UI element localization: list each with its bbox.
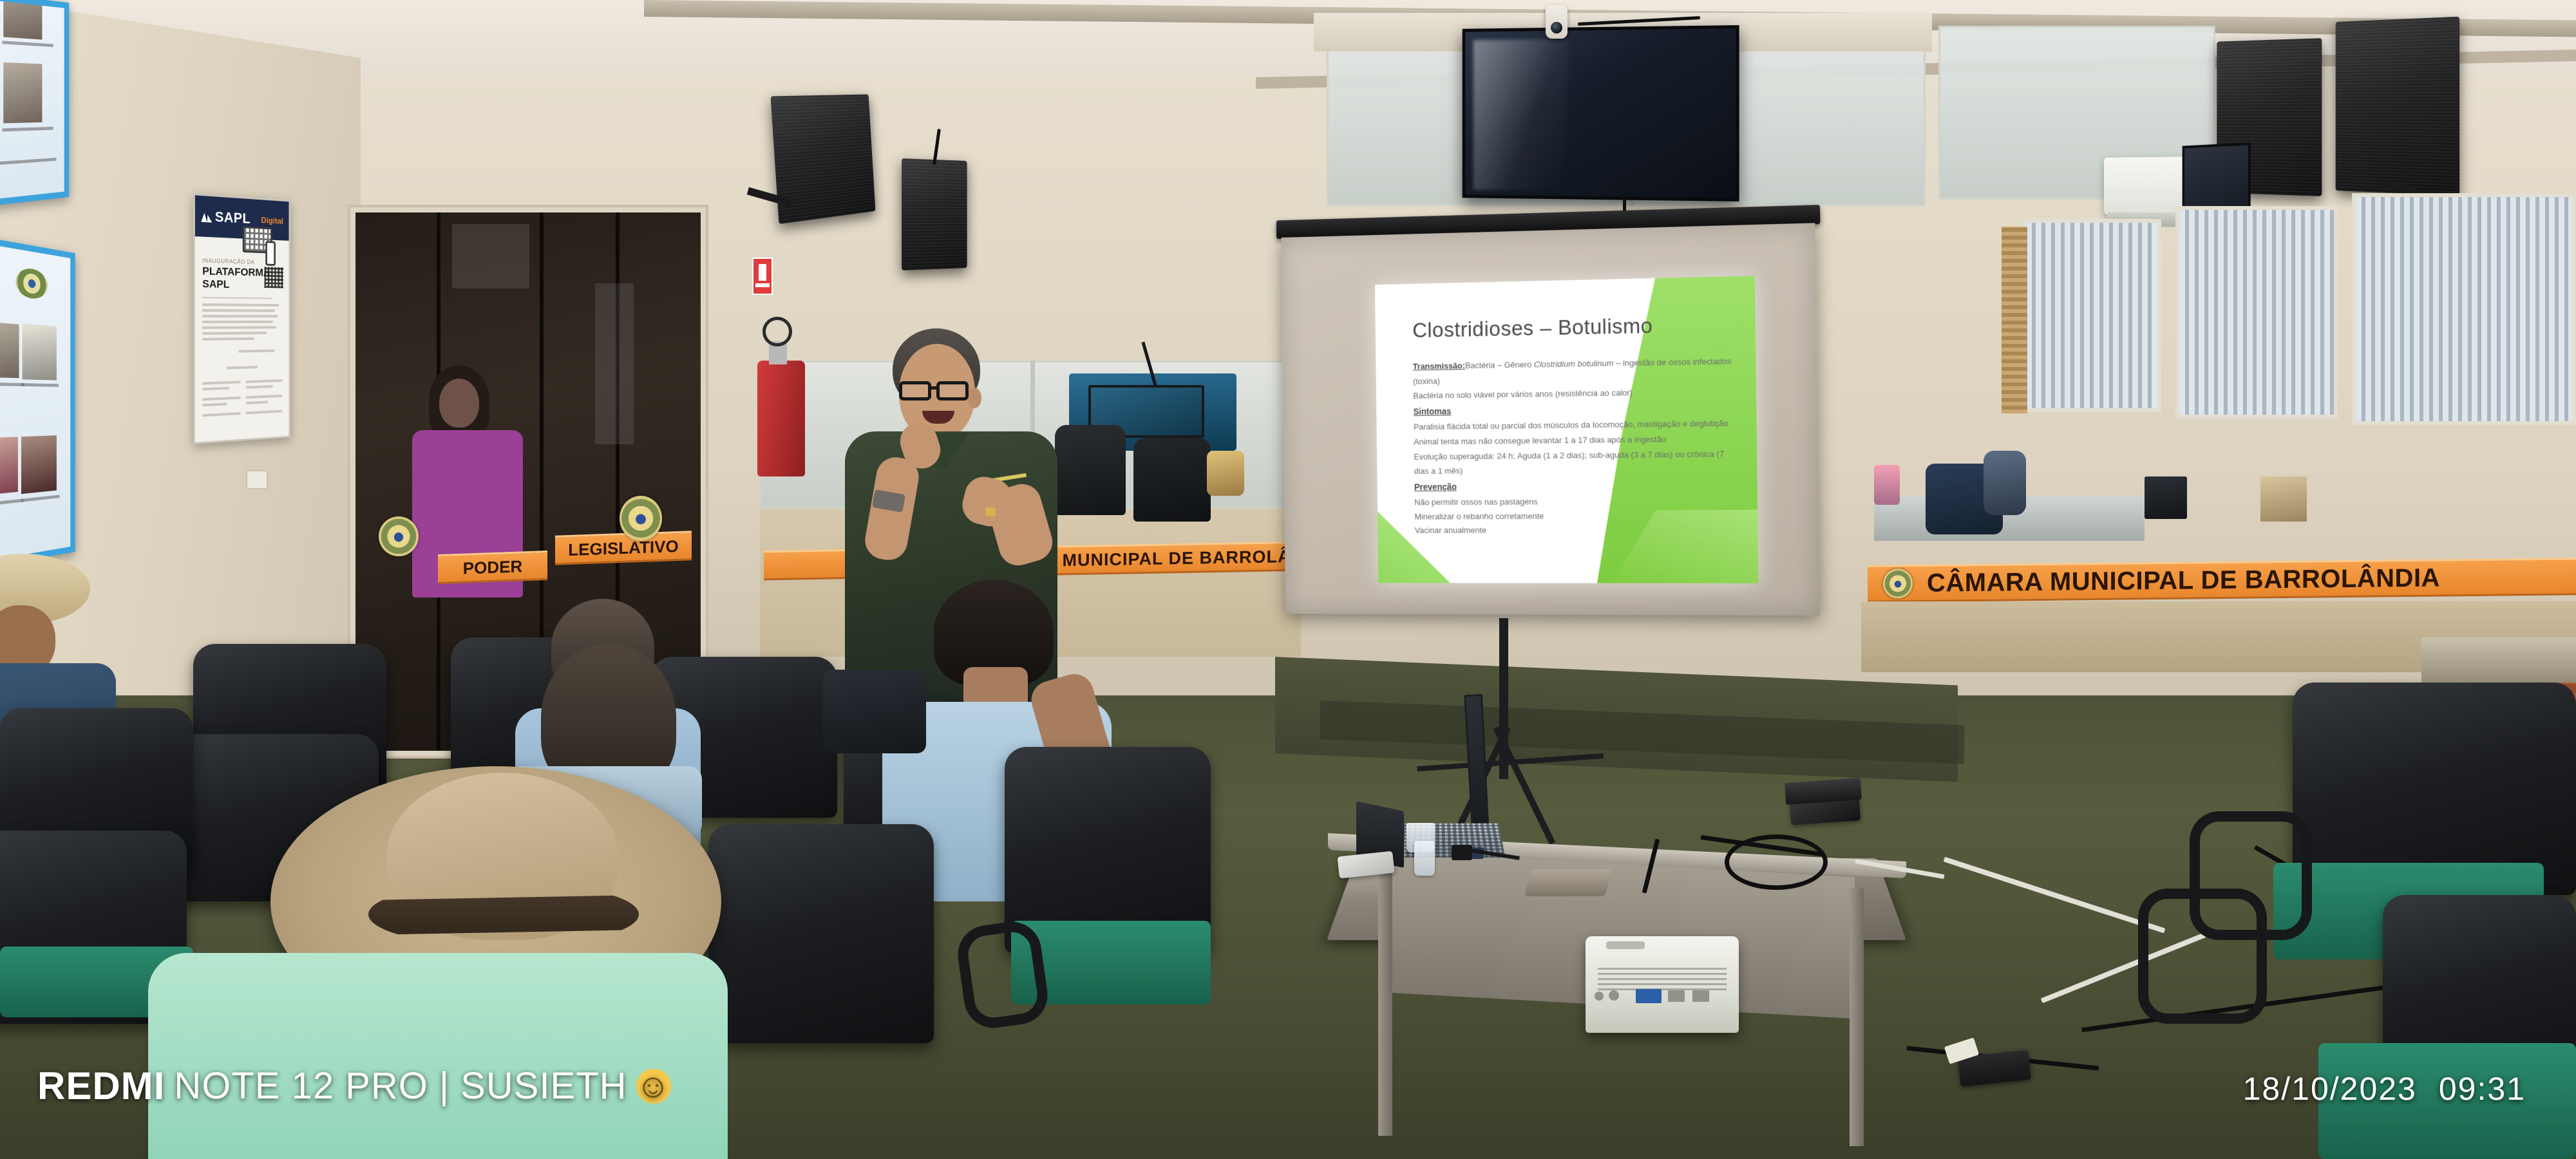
dais-chair-2 <box>1133 438 1211 522</box>
projector-port <box>1595 992 1604 1001</box>
portrait-thumb <box>3 62 42 124</box>
poster-signature-line <box>202 381 240 384</box>
tv-screen-glare <box>1473 39 1568 191</box>
sign-legislativo: LEGISLATIVO <box>555 531 692 565</box>
glasses-lens-left <box>899 381 931 400</box>
audience-shirt-mint <box>148 953 728 1159</box>
sapl-poster: SAPL Digital INAUGURAÇÃO DA PLATAFORMA S… <box>193 193 290 444</box>
slide-title: Clostridioses – Botulismo <box>1412 312 1737 343</box>
cable-coil <box>1725 834 1828 890</box>
slide-bullet: Transmissão:Bactéria – Gênero Clostridiu… <box>1413 353 1738 388</box>
wooden-blind <box>2002 227 2027 413</box>
window-right-b <box>2175 206 2338 419</box>
slide-bullet-italic: Clostridium botulinum <box>1534 359 1614 370</box>
crest-icon-left-2 <box>620 496 662 541</box>
projector[interactable] <box>1586 936 1739 1033</box>
sapl-poster-header: SAPL Digital <box>195 195 289 241</box>
dais-person <box>1207 451 1244 496</box>
fire-extinguisher <box>757 361 805 476</box>
portrait-thumb <box>23 323 57 380</box>
poster-signature-line <box>246 379 282 383</box>
watermark-model: NOTE 12 PRO | SUSIETH <box>174 1064 627 1107</box>
poster-signature-line <box>202 412 240 417</box>
plastic-cup-2[interactable] <box>1414 841 1435 876</box>
window-right-a <box>2022 219 2161 412</box>
poster-signature-line <box>202 402 227 406</box>
portrait-caption <box>0 158 56 165</box>
projector-vga-port <box>1636 989 1662 1003</box>
portrait-thumb <box>3 1 42 40</box>
window-blinds[interactable] <box>2179 210 2334 415</box>
projector-port <box>1609 990 1619 1001</box>
side-table <box>2421 637 2576 683</box>
portrait-caption <box>3 127 53 131</box>
sign-right-camara-label: CÂMARA MUNICIPAL DE BARROLÂNDIA <box>1927 563 2440 598</box>
projector-vent <box>1598 965 1727 990</box>
sapl-logo-label: SAPL <box>215 209 251 227</box>
brazil-coat-of-arms-icon <box>15 267 47 301</box>
wall-switch[interactable] <box>246 470 268 489</box>
crest-icon-right <box>1883 569 1913 598</box>
person-head <box>439 379 479 428</box>
sign-poder-label: PODER <box>463 556 522 578</box>
poster-signature-line <box>246 410 282 415</box>
poster-signature-line <box>202 397 240 401</box>
poster-text-line <box>202 315 278 317</box>
slide-bullet-head: Transmissão: <box>1413 361 1465 371</box>
photo-scene: SAPL Digital INAUGURAÇÃO DA PLATAFORMA S… <box>0 0 2576 1159</box>
poster-text-line <box>202 309 274 312</box>
poster-signature-line <box>246 395 282 399</box>
slide: Clostridioses – Botulismo Transmissão:Ba… <box>1375 276 1759 583</box>
poster-divider <box>202 297 271 299</box>
microphone-head[interactable] <box>1452 845 1472 860</box>
window-blinds[interactable] <box>2356 197 2572 421</box>
watermark-emoji-icon: ☺ <box>636 1069 671 1104</box>
desk-leg-left <box>1378 865 1392 1136</box>
timestamp-date: 18/10/2023 <box>2243 1070 2417 1107</box>
window-blinds[interactable] <box>2026 223 2157 408</box>
slide-bullet: Vacinar anualmente <box>1415 523 1739 538</box>
window-right-c <box>2352 193 2576 425</box>
photo-frame-lower <box>0 238 75 567</box>
sign-right-camara: CÂMARA MUNICIPAL DE BARROLÂNDIA <box>1868 558 2576 603</box>
portrait-caption <box>21 383 59 387</box>
poster-text-line <box>202 337 254 341</box>
chair-armrest <box>954 918 1051 1032</box>
poster-signature-line <box>246 385 273 389</box>
portrait-thumb <box>0 437 18 495</box>
desk-ashtray <box>1524 869 1612 896</box>
sapl-banner-label: Digital <box>261 215 283 225</box>
presenter-ear <box>967 388 981 408</box>
projection-screen-canvas: Clostridioses – Botulismo Transmissão:Ba… <box>1281 223 1819 616</box>
wedding-ring <box>985 507 996 516</box>
crest-icon-left <box>379 516 419 556</box>
projector-port <box>1668 990 1685 1002</box>
sapl-logo-icon <box>201 211 212 223</box>
back-room-flower-vase <box>1874 465 1900 505</box>
watermark-brand: REDMI <box>37 1064 165 1108</box>
sapl-phone-graphic <box>265 241 276 266</box>
security-camera-icon <box>1546 5 1567 39</box>
sign-legislativo-label: LEGISLATIVO <box>568 536 678 560</box>
qr-code-icon <box>264 267 283 288</box>
poster-text-line <box>202 303 279 306</box>
fire-extinguisher-sign-icon <box>752 258 773 295</box>
back-room-cabinet <box>2260 476 2307 522</box>
bag-on-chair <box>823 670 926 753</box>
portrait-caption <box>0 499 23 507</box>
glasses-bridge <box>930 386 939 390</box>
slide-section-heading: Prevenção <box>1414 476 1739 495</box>
poster-signature-line <box>202 387 229 391</box>
door-reflection <box>452 224 529 288</box>
wall-speaker-right-2 <box>2336 17 2459 196</box>
slide-bullet: Mineralizar o rebanho corretamente <box>1414 508 1739 524</box>
wall-mounted-tv[interactable] <box>1463 25 1739 202</box>
poster-text-line <box>202 332 267 335</box>
photo-frame-upper <box>0 0 69 206</box>
poster-signature-line <box>246 400 268 404</box>
wall-speaker-left-2 <box>902 158 967 270</box>
portrait-caption <box>3 41 53 47</box>
door-reflection <box>595 283 634 444</box>
poster-text-line <box>238 350 274 353</box>
poster-text-line <box>202 326 276 328</box>
back-room-person <box>1984 451 2026 515</box>
poster-text-line <box>227 366 258 369</box>
fire-extinguisher-handle <box>762 317 792 346</box>
slide-bullet-text: Bactéria – Gênero <box>1465 360 1534 370</box>
photo-timestamp: 18/10/2023 09:31 <box>2243 1070 2526 1107</box>
glasses-lens-right <box>936 381 969 400</box>
projector-handle <box>1606 941 1645 949</box>
slide-bullet: Evolução superaguda: 24 h; Aguda (1 a 2 … <box>1414 446 1738 479</box>
projector-port <box>1692 990 1709 1002</box>
portrait-thumb <box>21 435 57 494</box>
poster-text-line <box>202 321 273 323</box>
camera-watermark: REDMI NOTE 12 PRO | SUSIETH ☺ <box>37 1064 671 1108</box>
sign-poder: PODER <box>438 551 547 584</box>
timestamp-time: 09:31 <box>2439 1070 2526 1107</box>
portrait-thumb <box>0 321 19 378</box>
portrait-caption <box>21 495 60 502</box>
projection-screen: Clostridioses – Botulismo Transmissão:Ba… <box>1276 205 1825 623</box>
back-room-monitor <box>2145 476 2187 519</box>
slide-bullet: Não permitir ossos nas pastagens <box>1414 493 1739 509</box>
desk-leg-right <box>1850 889 1864 1146</box>
chair-armrest <box>2138 889 2267 1024</box>
